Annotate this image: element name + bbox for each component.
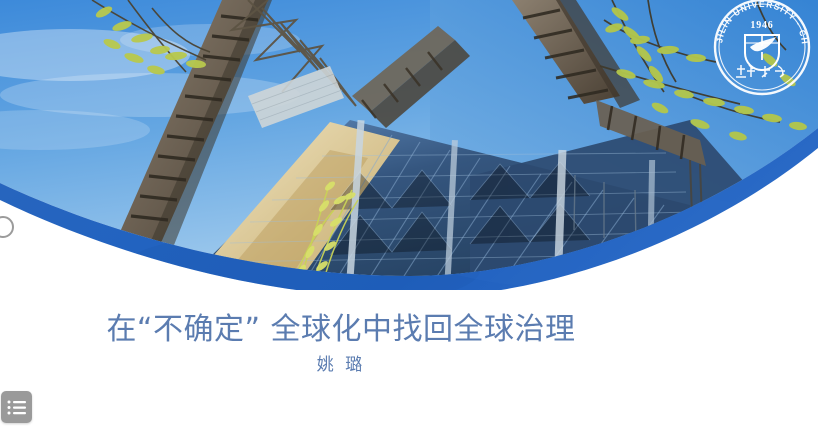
page-title: 在“不确定” 全球化中找回全球治理: [0, 310, 682, 350]
speaker-name: 姚 璐: [0, 352, 682, 378]
title-block: 在“不确定” 全球化中找回全球治理 姚 璐: [0, 310, 682, 378]
hero-banner: JILIN UNIVERSITY · CHINA 1946: [0, 0, 818, 290]
list-icon: [7, 400, 26, 415]
slide-root: JILIN UNIVERSITY · CHINA 1946: [0, 0, 818, 448]
svg-text:1946: 1946: [750, 20, 773, 31]
hero-banner-graphic: JILIN UNIVERSITY · CHINA 1946: [0, 0, 818, 290]
outline-list-button[interactable]: [1, 391, 32, 423]
